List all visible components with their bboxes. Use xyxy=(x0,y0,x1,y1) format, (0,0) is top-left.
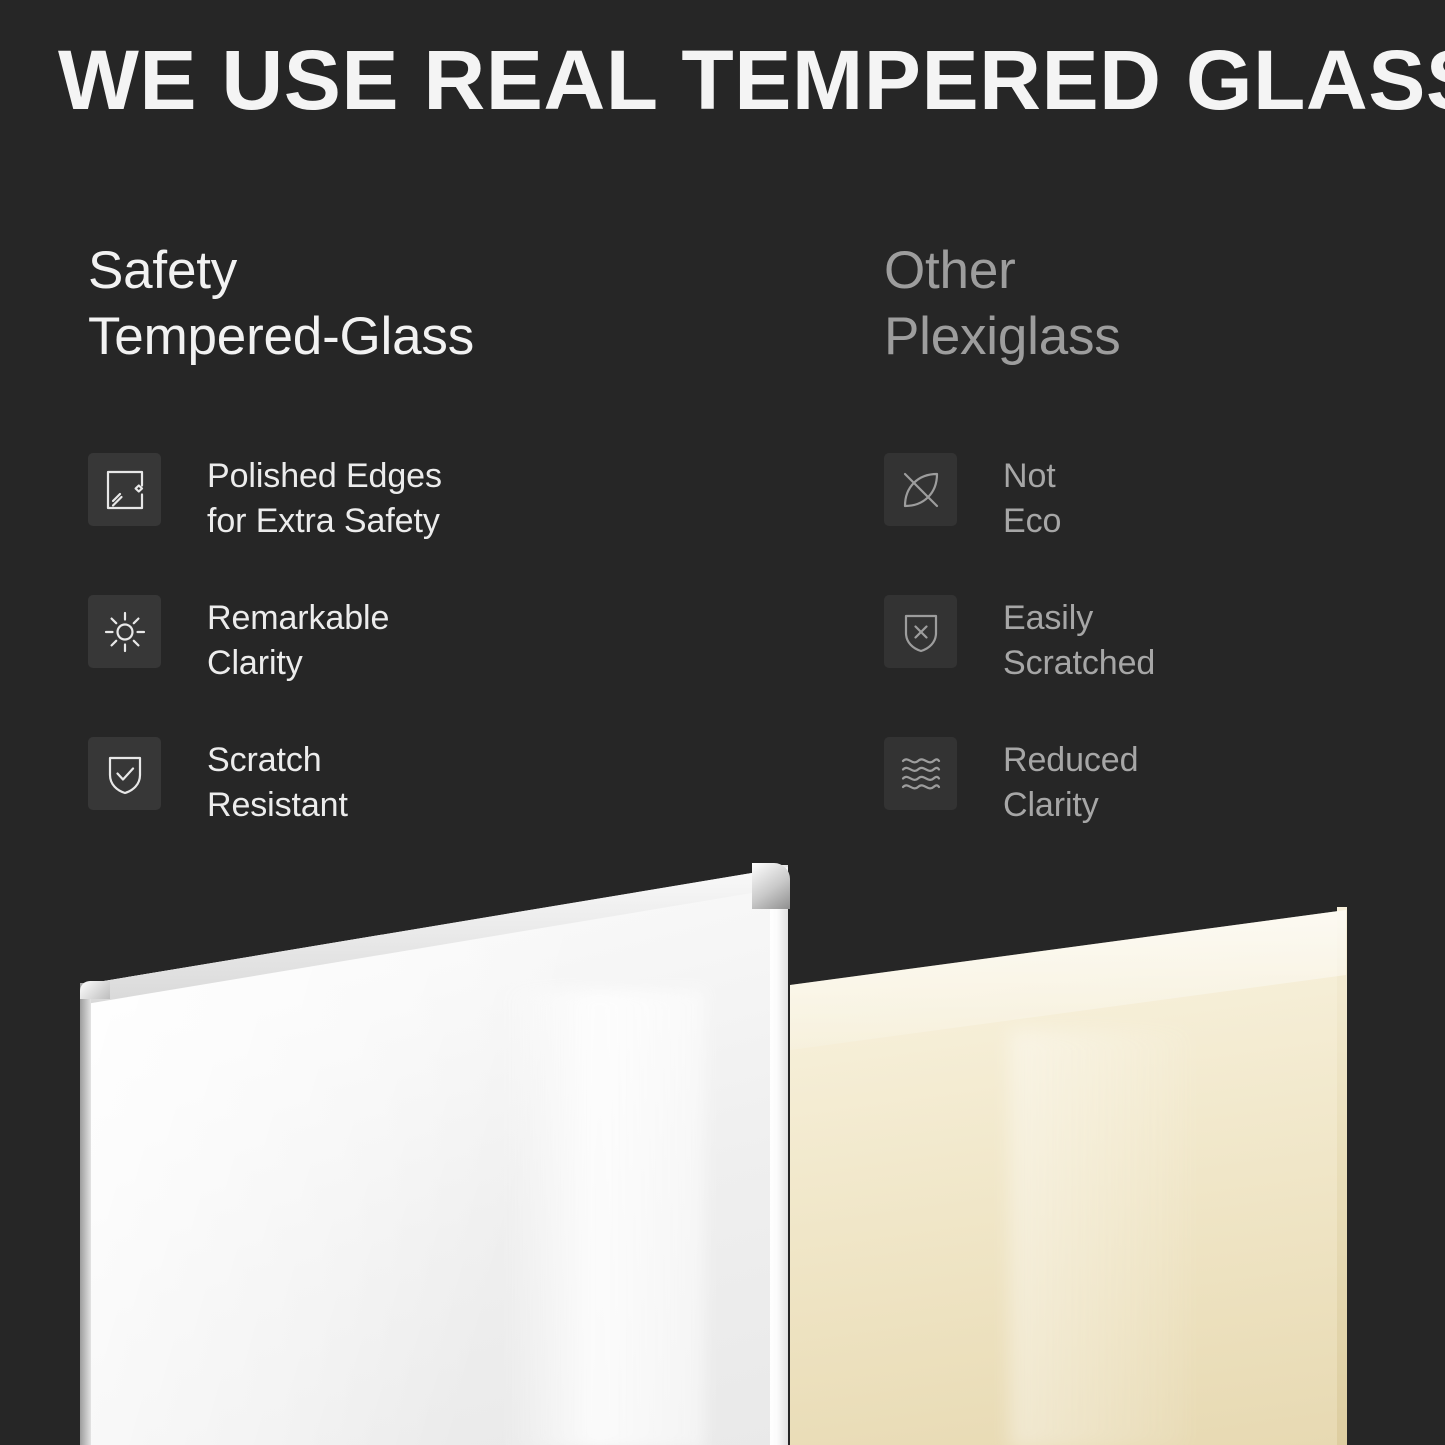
feature-row: Not Eco xyxy=(884,453,1444,526)
column-plexiglass: Other Plexiglass Not Eco xyxy=(884,238,1444,370)
feature-label: Easily Scratched xyxy=(1003,595,1155,686)
column-heading-line2: Plexiglass xyxy=(884,304,1444,370)
plexiglass-panel-right-edge xyxy=(1337,907,1347,1445)
feature-label-line1: Reduced xyxy=(1003,741,1138,779)
feature-label-line2: Clarity xyxy=(1003,783,1138,828)
column-heading-line1: Safety xyxy=(88,241,237,300)
feature-label: Not Eco xyxy=(1003,453,1061,544)
feature-label: Scratch Resistant xyxy=(207,737,348,828)
feature-label: Remarkable Clarity xyxy=(207,595,389,686)
shield-check-icon xyxy=(88,737,161,810)
polished-glass-panel-icon xyxy=(88,453,161,526)
feature-row: Reduced Clarity xyxy=(884,737,1444,810)
shield-x-icon xyxy=(884,595,957,668)
tempered-glass-panel-left-edge xyxy=(80,983,91,1445)
column-heading-line2: Tempered-Glass xyxy=(88,304,788,370)
feature-row: Polished Edges for Extra Safety xyxy=(88,453,788,526)
sun-brightness-icon xyxy=(88,595,161,668)
glass-comparison-image xyxy=(0,845,1445,1445)
column-heading-line1: Other xyxy=(884,241,1016,300)
feature-row: Easily Scratched xyxy=(884,595,1444,668)
tempered-glass-panel-top-left-corner xyxy=(80,981,110,999)
tempered-glass-panel-top-right-corner xyxy=(752,863,790,909)
feature-label-line2: Scratched xyxy=(1003,641,1155,686)
tempered-glass-panel-right-edge xyxy=(770,865,788,1445)
feature-label-line2: for Extra Safety xyxy=(207,499,442,544)
feature-row: Scratch Resistant xyxy=(88,737,788,810)
column-heading: Other Plexiglass xyxy=(884,238,1444,370)
leaf-slashed-icon xyxy=(884,453,957,526)
feature-label: Polished Edges for Extra Safety xyxy=(207,453,442,544)
column-heading: Safety Tempered-Glass xyxy=(88,238,788,370)
feature-label-line1: Easily xyxy=(1003,599,1093,637)
feature-label-line2: Clarity xyxy=(207,641,389,686)
feature-label-line1: Remarkable xyxy=(207,599,389,637)
wavy-lines-icon xyxy=(884,737,957,810)
feature-label-line1: Scratch xyxy=(207,741,322,779)
tempered-glass-panel-reflection xyxy=(505,990,705,1445)
feature-label: Reduced Clarity xyxy=(1003,737,1138,828)
page-title: WE USE REAL TEMPERED GLASS xyxy=(58,34,1425,126)
feature-label-line1: Polished Edges xyxy=(207,457,442,495)
feature-label-line2: Resistant xyxy=(207,783,348,828)
plexiglass-panel-reflection xyxy=(1010,1030,1190,1445)
feature-list: Polished Edges for Extra Safety Remarkab… xyxy=(88,453,788,879)
column-tempered-glass: Safety Tempered-Glass Polished Edges for… xyxy=(88,238,788,370)
feature-row: Remarkable Clarity xyxy=(88,595,788,668)
feature-label-line2: Eco xyxy=(1003,499,1061,544)
feature-list: Not Eco Easily Scratched xyxy=(884,453,1444,879)
infographic-page: WE USE REAL TEMPERED GLASS Safety Temper… xyxy=(0,0,1445,1445)
feature-label-line1: Not xyxy=(1003,457,1056,495)
